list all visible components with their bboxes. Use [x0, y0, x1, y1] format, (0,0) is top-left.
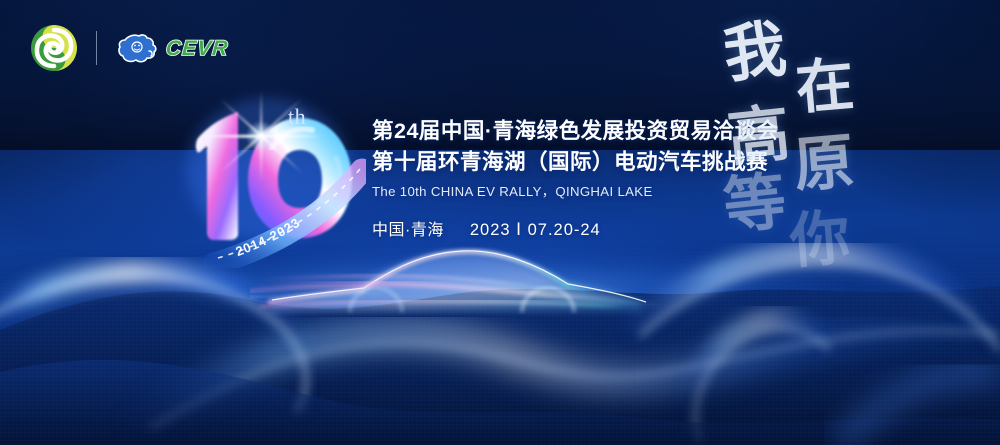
event-title-line-2: 第十届环青海湖（国际）电动汽车挑战赛: [372, 147, 712, 178]
anniversary-superscript: th: [288, 104, 306, 130]
calligraphy-slogan: 我 在 高 原 等 你: [706, 14, 896, 279]
cevr-wordmark: CEVR: [165, 38, 229, 59]
starburst-icon: [201, 76, 321, 196]
event-location: 中国·青海: [372, 216, 444, 240]
logo-divider: [96, 31, 97, 65]
poster-canvas: CEVR: [0, 0, 1000, 445]
calligraphy-char-2: 高: [725, 103, 793, 171]
calligraphy-char-4: 等: [721, 171, 789, 239]
anniversary-10th-mark: 2014-2023: [176, 78, 366, 268]
header-logo-bar: CEVR: [30, 24, 228, 72]
green-swirl-logo-icon: [30, 24, 78, 72]
event-copy-block: 第24届中国·青海绿色发展投资贸易洽谈会 第十届环青海湖（国际）电动汽车挑战赛 …: [372, 116, 712, 240]
calligraphy-char-3: 原: [791, 131, 856, 196]
event-date: 2023 Ⅰ 07.20-24: [470, 220, 601, 240]
event-dateline: 中国·青海 2023 Ⅰ 07.20-24: [372, 216, 712, 240]
event-title-line-1: 第24届中国·青海绿色发展投资贸易洽谈会: [372, 116, 712, 147]
calligraphy-char-1: 在: [794, 56, 857, 119]
calligraphy-char-5: 你: [787, 207, 852, 272]
calligraphy-char-0: 我: [720, 18, 789, 87]
qinghai-lake-map-icon: [115, 31, 159, 65]
cevr-logo: CEVR: [115, 31, 228, 65]
event-title-english: The 10th CHINA EV RALLY，QINGHAI LAKE: [372, 181, 712, 200]
